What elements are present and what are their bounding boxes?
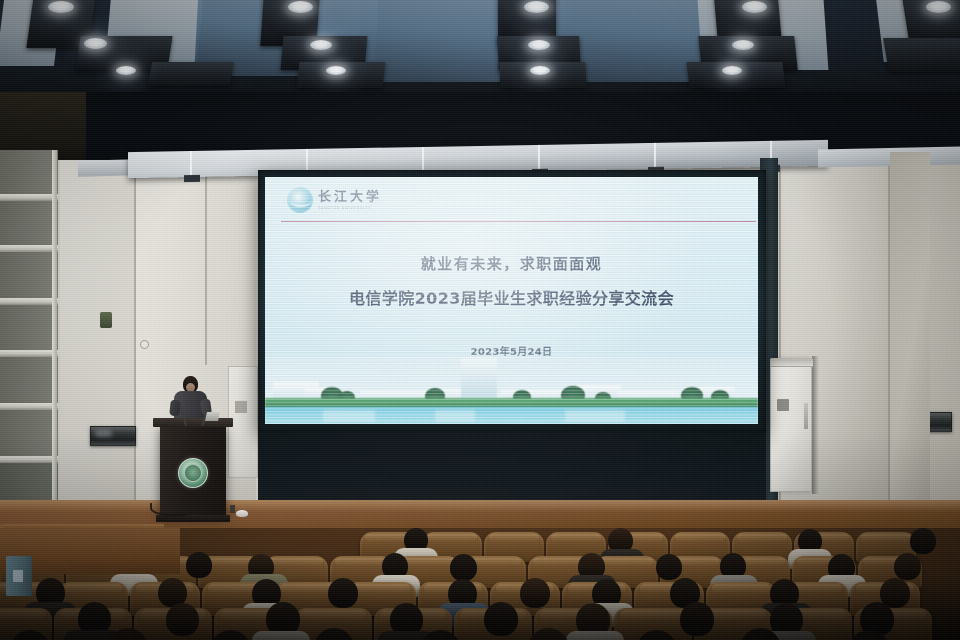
louver-slat [0, 298, 58, 305]
wall-mounted-box [100, 312, 112, 328]
louver-slat [0, 194, 58, 201]
projection-screen-frame: 长江大学 YANGTZE UNIVERSITY 就业有未来，求职面面观 电信学院… [258, 170, 766, 432]
attendee-head [680, 602, 714, 636]
attendee-head [656, 554, 682, 580]
ceiling-downlight [722, 66, 742, 75]
attendee-head [520, 578, 550, 608]
ceiling-downlight [310, 40, 332, 50]
attendee-head [910, 528, 936, 554]
ceiling-downlight [48, 1, 74, 13]
laptop-on-lectern [205, 412, 220, 421]
slide-title: 就业有未来，求职面面观 [265, 253, 758, 274]
ceiling-downlight [326, 66, 346, 75]
ceiling-downlight [742, 1, 767, 13]
attendee-head [450, 554, 477, 581]
ceiling-downlight [528, 40, 550, 50]
louver-slat [0, 350, 58, 357]
attendee-head [166, 603, 199, 636]
ceiling-downlight [926, 1, 951, 13]
floor-object [230, 505, 235, 513]
attendee-head [894, 553, 921, 580]
projection-screen: 长江大学 YANGTZE UNIVERSITY 就业有未来，求职面面观 电信学院… [265, 177, 758, 424]
air-conditioner-cabinet [770, 358, 812, 492]
attendee-head [328, 578, 358, 608]
auditorium-scene: 长江大学 YANGTZE UNIVERSITY 就业有未来，求职面面观 电信学院… [0, 0, 960, 640]
louver-slat [0, 456, 58, 463]
ceiling-downlight [116, 66, 136, 75]
louver-slat [0, 245, 58, 252]
ceiling-downlight [530, 66, 550, 75]
campus-photo-band [265, 356, 758, 424]
ceiling-downlight [84, 38, 107, 49]
university-name-cn: 长江大学 [318, 190, 382, 203]
wall-hook-icon [140, 340, 149, 349]
attendee-head [484, 602, 518, 636]
ceiling-downlight [288, 1, 313, 13]
waste-bin [6, 556, 32, 596]
slide-subtitle: 电信学院2023届毕业生求职经验分享交流会 [265, 285, 758, 309]
ceiling-downlight [732, 40, 754, 50]
campus-tower [461, 358, 497, 398]
slide-divider [281, 221, 756, 222]
ceiling-valance-right [818, 147, 960, 168]
university-logo: 长江大学 YANGTZE UNIVERSITY [287, 187, 382, 213]
university-name-en: YANGTZE UNIVERSITY [318, 206, 382, 210]
ceiling-beam [148, 62, 234, 86]
university-crest-icon [178, 458, 208, 488]
university-seal-icon [287, 187, 313, 213]
ceiling [0, 0, 960, 96]
ceiling-downlight [524, 1, 549, 13]
floor-object [236, 510, 248, 517]
left-louver-wall [0, 150, 58, 550]
wall-speaker-left [90, 426, 136, 446]
louver-slat [0, 403, 58, 410]
stage-backdrop-shadow [258, 432, 766, 502]
louver-wall-edge [52, 150, 57, 550]
ceiling-beam [883, 38, 960, 72]
attendee-head [186, 552, 212, 578]
